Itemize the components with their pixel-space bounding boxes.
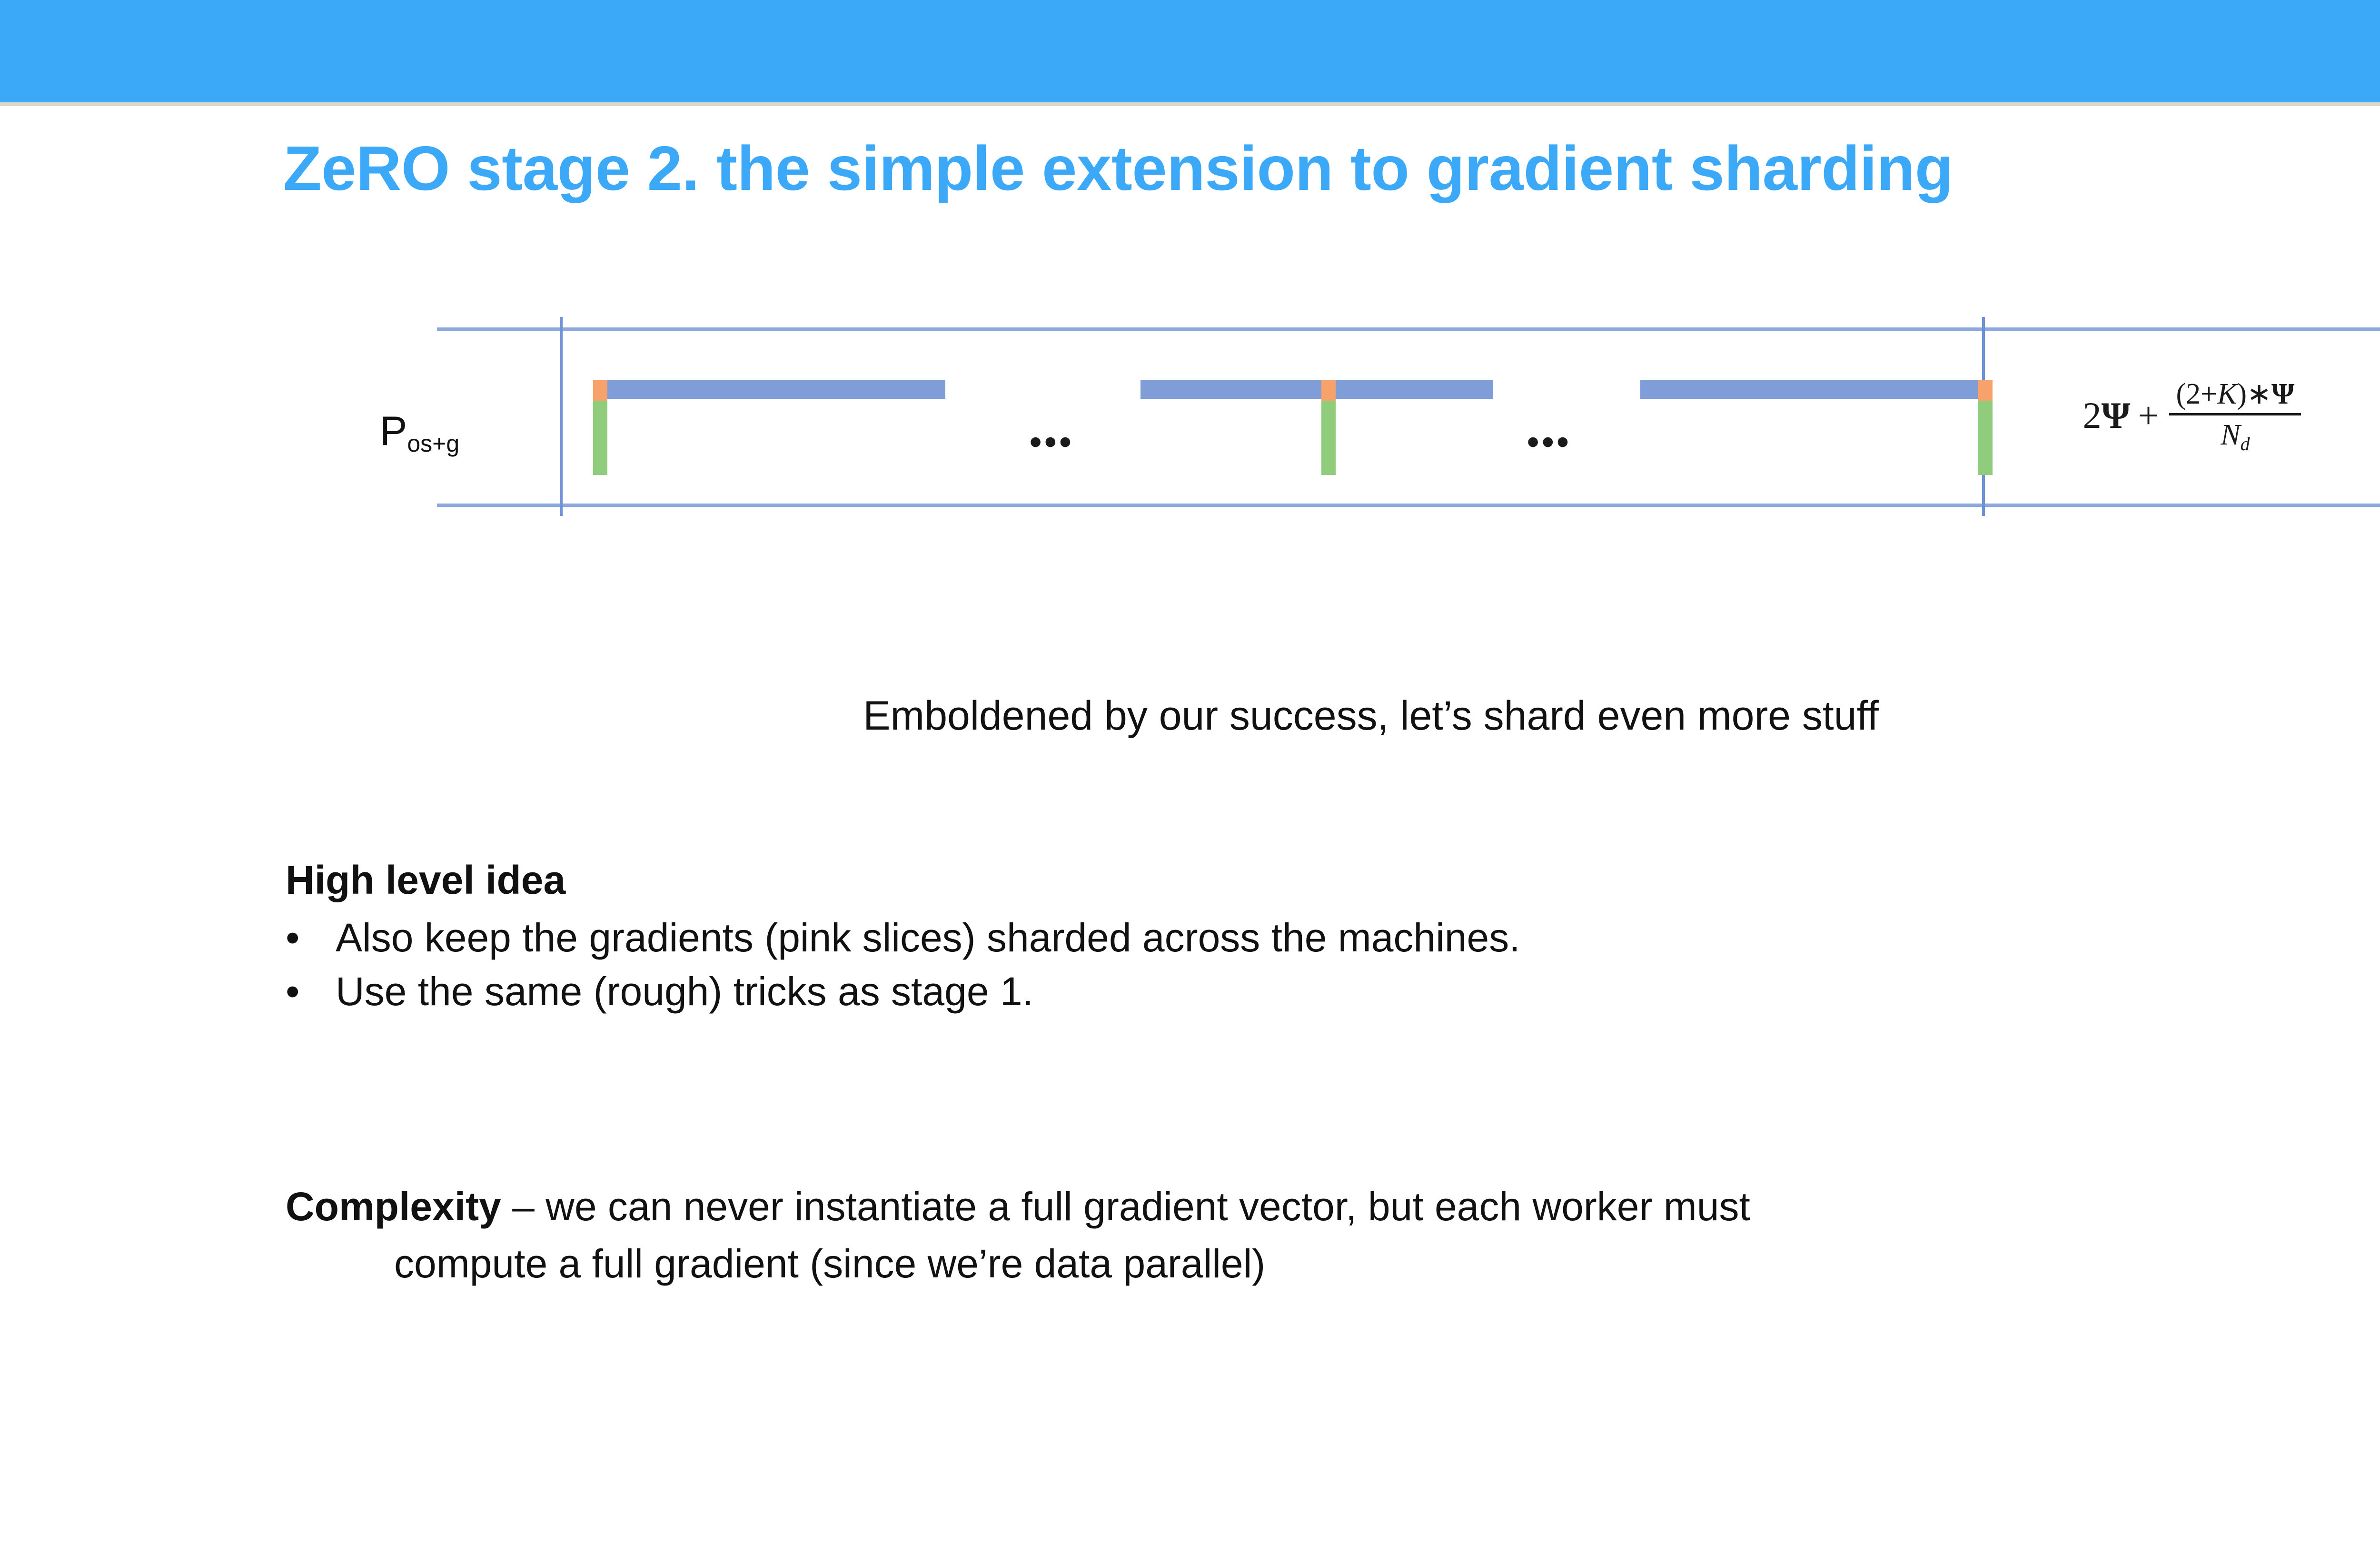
table-divider-1: [560, 317, 563, 516]
sharded-stack-1: [593, 380, 607, 475]
sharded-stack-3: [1978, 380, 1993, 475]
parameter-bar-3: [1640, 380, 1993, 399]
memory-formula-cell: 2Ψ + (2+K)∗Ψ Nd: [2008, 356, 2379, 475]
formula-numerator-open: (2+: [2176, 378, 2217, 410]
formula-psi-symbol: Ψ: [2102, 394, 2131, 437]
page-title: ZeRO stage 2. the simple extension to gr…: [283, 136, 2380, 202]
list-item: • Also keep the gradients (pink slices) …: [286, 914, 2380, 961]
gradient-shard-segment-1: [593, 380, 607, 401]
parameter-bar-2: [1140, 380, 1493, 399]
row-label-p-os-g: Pos+g: [380, 411, 459, 455]
row-label-subscript: os+g: [407, 430, 459, 457]
body-content: High level idea • Also keep the gradient…: [286, 857, 2380, 1022]
complexity-line1: – we can never instantiate a full gradie…: [501, 1184, 1750, 1229]
formula-numerator-psi: Ψ: [2271, 378, 2294, 410]
optimizer-shard-segment-3: [1978, 401, 1993, 475]
banner-underline-strip: [0, 102, 2380, 106]
lead-sentence: Emboldened by our success, let’s shard e…: [0, 692, 2380, 740]
formula-plus-sign: +: [2130, 394, 2166, 437]
formula-lead-coefficient: 2: [2083, 394, 2102, 437]
formula-numerator: (2+K)∗Ψ: [2169, 376, 2301, 413]
formula-denominator: Nd: [2221, 415, 2250, 455]
formula-denominator-n: N: [2221, 419, 2240, 451]
complexity-paragraph: Complexity – we can never instantiate a …: [286, 1183, 2380, 1231]
device-group-1: [580, 327, 1008, 504]
ellipsis-1: •••: [1030, 425, 1074, 459]
device-group-3: [1627, 327, 2055, 504]
bullet-marker-icon: •: [286, 914, 336, 961]
row-label-base: P: [380, 408, 407, 454]
formula-denominator-sub: d: [2241, 433, 2250, 455]
gradient-shard-segment-2: [1321, 380, 1336, 401]
parameter-bar-1: [593, 380, 945, 399]
formula-fraction: (2+K)∗Ψ Nd: [2169, 376, 2301, 455]
device-group-2: [1127, 327, 1556, 504]
optimizer-shard-segment-1: [593, 401, 607, 475]
complexity-paragraph-line2: compute a full gradient (since we’re dat…: [394, 1240, 2380, 1288]
top-banner: [0, 0, 2380, 102]
optimizer-shard-segment-2: [1321, 401, 1336, 475]
formula-numerator-k: K: [2217, 378, 2237, 410]
sharded-stack-2: [1321, 380, 1336, 475]
high-level-idea-heading: High level idea: [286, 857, 2380, 904]
gradient-shard-segment-3: [1978, 380, 1993, 401]
list-item: • Use the same (rough) tricks as stage 1…: [286, 968, 2380, 1015]
list-item-text: Also keep the gradients (pink slices) sh…: [336, 914, 2380, 961]
complexity-label: Complexity: [286, 1184, 501, 1229]
memory-formula: 2Ψ + (2+K)∗Ψ Nd: [2083, 376, 2304, 455]
list-item-text: Use the same (rough) tricks as stage 1.: [336, 968, 2380, 1015]
bullet-marker-icon: •: [286, 968, 336, 1015]
zero-memory-table: Pos+g ••• ••• 2Ψ + (2+K)∗Ψ: [437, 327, 2380, 508]
formula-numerator-close: )∗: [2237, 378, 2271, 410]
ellipsis-2: •••: [1527, 425, 1572, 459]
table-bottom-border: [437, 504, 2380, 507]
